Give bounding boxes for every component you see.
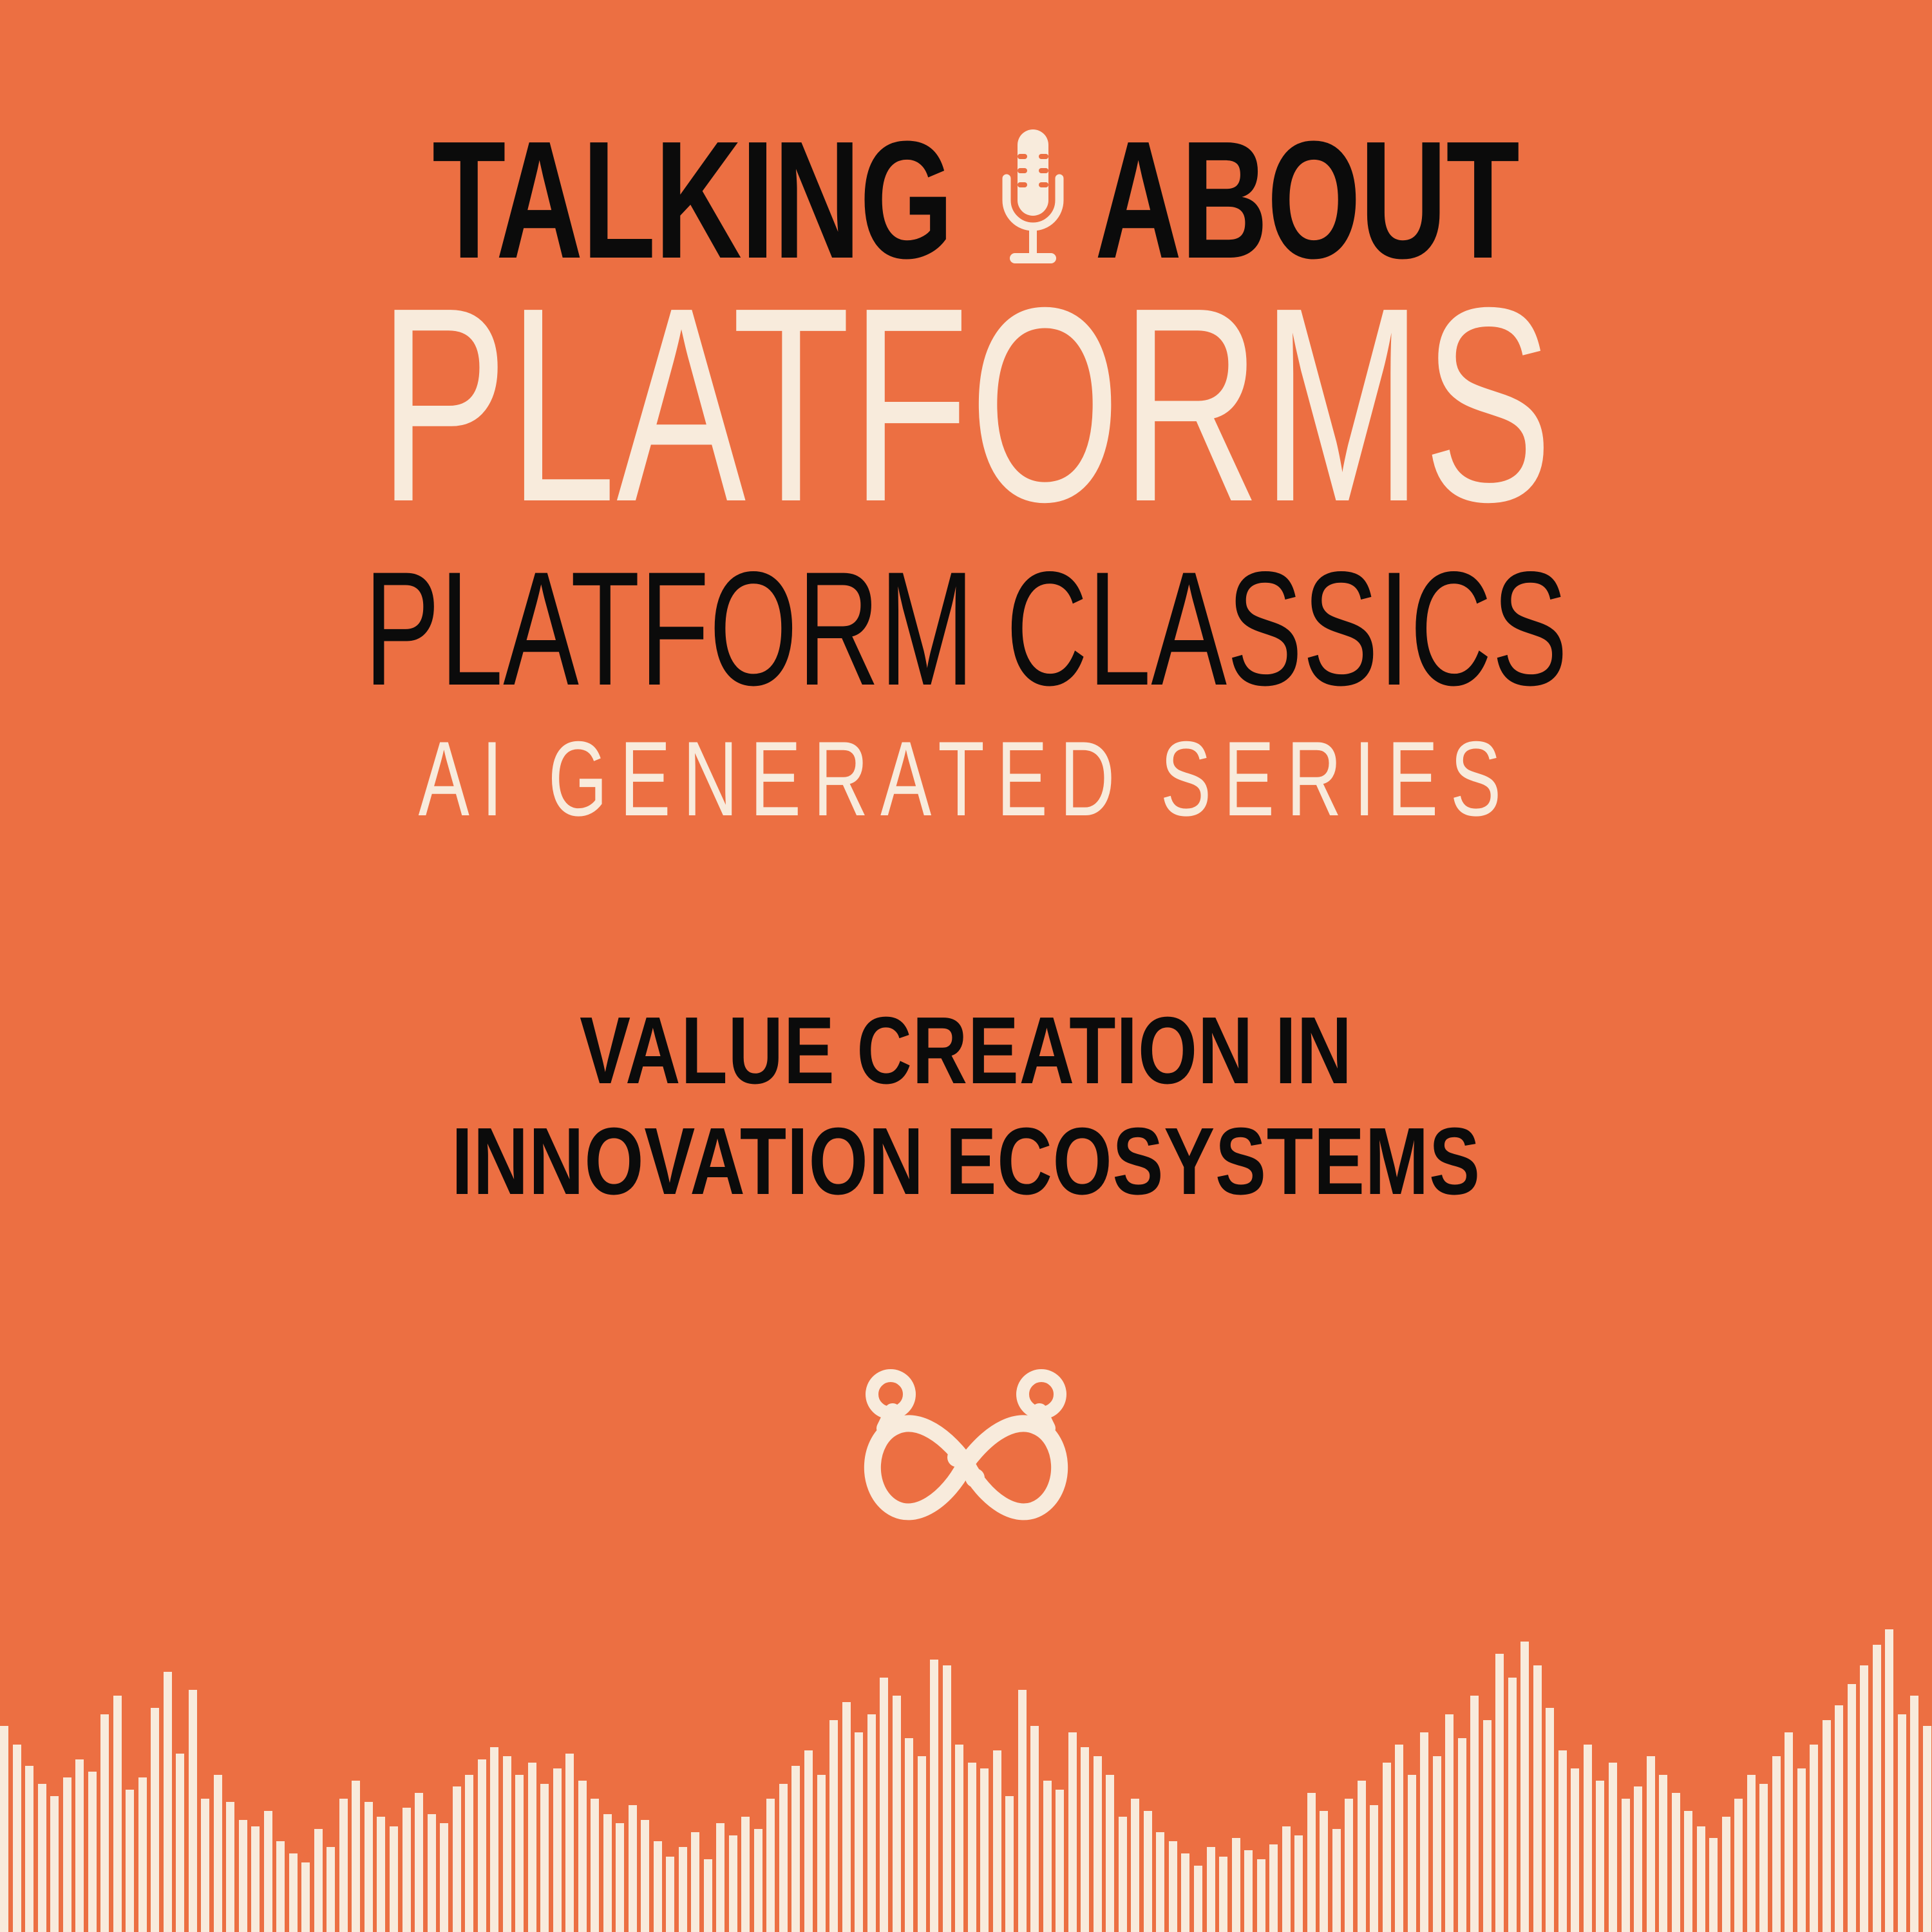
series-title: PLATFORM CLASSICS: [365, 568, 1568, 690]
waveform-bar: [565, 1754, 574, 1932]
waveform-bar: [553, 1768, 562, 1932]
waveform-bar: [1910, 1696, 1918, 1932]
waveform-bar: [1823, 1720, 1831, 1932]
waveform-bar: [1520, 1642, 1529, 1932]
waveform-bar: [88, 1772, 97, 1932]
waveform-bar: [1056, 1790, 1064, 1932]
waveform-bar: [13, 1745, 21, 1932]
waveform-bar: [1144, 1811, 1152, 1932]
title-stack: TALKING: [0, 0, 1932, 820]
waveform-bar: [1370, 1805, 1378, 1932]
waveform-bar: [603, 1814, 612, 1932]
waveform-bar: [1219, 1857, 1227, 1932]
waveform-bar: [1194, 1866, 1202, 1932]
waveform-bar: [1030, 1726, 1039, 1932]
waveform-bar: [1307, 1793, 1316, 1932]
waveform-bar: [1332, 1829, 1341, 1932]
waveform-bar: [1018, 1690, 1027, 1932]
waveform-bar: [1119, 1817, 1127, 1932]
waveform-bar: [301, 1862, 310, 1932]
waveform-bar: [352, 1781, 360, 1932]
waveform-bar: [1005, 1796, 1014, 1932]
brand-title: PLATFORMS: [379, 299, 1553, 511]
waveform-bar: [1470, 1696, 1479, 1932]
waveform-bar: [1734, 1799, 1743, 1932]
audio-waveform: [0, 1629, 1932, 1932]
waveform-bar: [189, 1690, 197, 1932]
waveform-bar: [164, 1672, 172, 1932]
waveform-bar: [1647, 1756, 1655, 1932]
waveform-bar: [38, 1784, 46, 1932]
waveform-bar: [1571, 1768, 1579, 1932]
waveform-bar: [0, 1726, 8, 1932]
waveform-bar: [1709, 1838, 1718, 1932]
waveform-bar: [214, 1775, 222, 1932]
waveform-bar: [490, 1747, 498, 1932]
waveform-bar: [1546, 1708, 1554, 1932]
waveform-bar: [1684, 1811, 1692, 1932]
waveform-bar: [1622, 1799, 1630, 1932]
waveform-bar: [955, 1745, 963, 1932]
waveform-bar: [1835, 1705, 1843, 1932]
waveform-bar: [980, 1768, 989, 1932]
waveform-bar: [138, 1777, 147, 1932]
waveform-bar: [1885, 1629, 1893, 1932]
waveform-bar: [918, 1756, 926, 1932]
waveform-bar: [817, 1775, 826, 1932]
waveform-bar: [1508, 1678, 1517, 1932]
waveform-bar: [943, 1665, 951, 1932]
waveform-bar: [905, 1738, 913, 1932]
waveform-bar: [1169, 1841, 1177, 1932]
waveform-bar: [704, 1859, 712, 1932]
waveform-bar: [1860, 1665, 1868, 1932]
waveform-bar: [1282, 1826, 1291, 1932]
waveform-bar: [113, 1696, 122, 1932]
waveform-bar: [151, 1708, 159, 1932]
waveform-bar: [1269, 1844, 1278, 1932]
waveform-bar: [1722, 1817, 1730, 1932]
waveform-bar: [453, 1786, 461, 1932]
waveform-bar: [804, 1750, 813, 1932]
waveform-bar: [993, 1750, 1001, 1932]
waveform-bar: [402, 1808, 411, 1932]
waveform-bar: [1131, 1799, 1139, 1932]
waveform-bar: [616, 1823, 624, 1932]
waveform-bar: [1495, 1654, 1504, 1932]
waveform-bar: [829, 1720, 838, 1932]
waveform-bar: [1358, 1781, 1366, 1932]
waveform-bar: [1294, 1835, 1303, 1932]
waveform-bar: [428, 1814, 436, 1932]
waveform-bar: [126, 1790, 134, 1932]
waveform-bar: [100, 1714, 109, 1932]
waveform-bar: [855, 1732, 863, 1932]
waveform-bar: [515, 1775, 524, 1932]
waveform-bar: [1483, 1720, 1492, 1932]
waveform-bar: [1345, 1799, 1353, 1932]
waveform-bar: [440, 1823, 448, 1932]
waveform-bar: [264, 1811, 272, 1932]
waveform-bar: [666, 1857, 674, 1932]
waveform-bar: [1445, 1714, 1454, 1932]
waveform-bar: [654, 1841, 662, 1932]
waveform-bar: [1672, 1793, 1680, 1932]
waveform-bar: [1697, 1826, 1705, 1932]
waveform-bar: [1244, 1850, 1253, 1932]
waveform-bar: [779, 1784, 788, 1932]
waveform-bar: [1156, 1832, 1164, 1932]
waveform-bar: [75, 1759, 84, 1932]
waveform-bar: [1533, 1665, 1542, 1932]
waveform-bar: [1609, 1763, 1617, 1932]
subseries-label: AI GENERATED SERIES: [419, 737, 1513, 820]
waveform-bar: [1797, 1768, 1806, 1932]
waveform-bar: [1659, 1775, 1667, 1932]
episode-title: VALUE CREATION IN INNOVATION ECOSYSTEMS: [0, 1002, 1932, 1224]
waveform-bar: [289, 1853, 298, 1932]
waveform-bar: [25, 1766, 33, 1932]
waveform-bar: [63, 1777, 71, 1932]
waveform-bar: [239, 1820, 247, 1932]
waveform-bar: [1747, 1775, 1756, 1932]
waveform-bar: [1395, 1745, 1403, 1932]
waveform-bar: [1383, 1763, 1391, 1932]
waveform-bar: [1181, 1853, 1189, 1932]
waveform-bar: [251, 1826, 260, 1932]
waveform-bar: [1923, 1726, 1931, 1932]
waveform-bar: [1320, 1811, 1328, 1932]
waveform-bar: [1898, 1714, 1906, 1932]
waveform-bar: [201, 1799, 209, 1932]
waveform-bar: [754, 1829, 762, 1932]
waveform-bar: [226, 1802, 234, 1932]
waveform-bar: [176, 1754, 184, 1932]
waveform-bar: [880, 1678, 888, 1932]
waveform-bar: [365, 1802, 373, 1932]
waveform-bar: [1596, 1781, 1604, 1932]
waveform-bar: [716, 1823, 724, 1932]
logo-head-right: [1023, 1376, 1060, 1413]
waveform-bar: [1772, 1756, 1781, 1932]
waveform-bar: [377, 1817, 385, 1932]
waveform-bar: [591, 1799, 599, 1932]
waveform-bar: [1068, 1732, 1077, 1932]
waveform-bar: [390, 1826, 398, 1932]
waveform-bar: [314, 1829, 323, 1932]
podcast-cover-art: TALKING: [0, 0, 1932, 1932]
waveform-bar: [791, 1766, 800, 1932]
waveform-bar: [1759, 1784, 1768, 1932]
waveform-bar: [1106, 1775, 1114, 1932]
waveform-bar: [893, 1696, 901, 1932]
waveform-bar: [691, 1832, 699, 1932]
waveform-bar: [528, 1763, 536, 1932]
waveform-bar: [276, 1841, 285, 1932]
waveform-bar: [478, 1759, 486, 1932]
waveform-bar: [339, 1799, 348, 1932]
infinity-people-logo: [837, 1367, 1095, 1560]
waveform-bar: [327, 1847, 335, 1932]
waveform-bar: [1634, 1786, 1642, 1932]
episode-title-line-2: INNOVATION ECOSYSTEMS: [193, 1113, 1739, 1211]
waveform-bar: [540, 1784, 549, 1932]
logo-dot-lower: [965, 1468, 985, 1488]
waveform-bar: [50, 1796, 59, 1932]
waveform-bar: [1043, 1781, 1052, 1932]
episode-title-line-1: VALUE CREATION IN: [193, 1002, 1739, 1100]
waveform-bar: [641, 1820, 649, 1932]
waveform-bar: [1232, 1838, 1240, 1932]
logo-dot-upper: [947, 1448, 967, 1467]
waveform-bar: [1094, 1756, 1102, 1932]
waveform-bar: [503, 1756, 511, 1932]
waveform-bar: [930, 1660, 938, 1932]
waveform-bar: [1848, 1684, 1856, 1932]
waveform-bar: [1558, 1750, 1567, 1932]
waveform-bar: [1420, 1732, 1428, 1932]
waveform-bar: [729, 1835, 737, 1932]
waveform-bar: [415, 1793, 423, 1932]
waveform-bar: [842, 1702, 851, 1932]
waveform-bar: [1873, 1645, 1881, 1932]
waveform-bar: [679, 1847, 687, 1932]
waveform-bar: [741, 1817, 750, 1932]
waveform-bar: [1207, 1847, 1215, 1932]
waveform-bar: [1257, 1859, 1265, 1932]
waveform-bar: [1810, 1745, 1818, 1932]
waveform-bar: [867, 1714, 876, 1932]
waveform-bar: [766, 1799, 775, 1932]
waveform-bar: [1408, 1775, 1416, 1932]
waveform-bar: [1584, 1745, 1592, 1932]
waveform-bar: [1433, 1756, 1441, 1932]
waveform-bar: [629, 1805, 637, 1932]
waveform-bar: [578, 1781, 587, 1932]
logo-head-left: [872, 1376, 909, 1413]
logo-container: [0, 1367, 1932, 1560]
waveform-bar: [968, 1763, 976, 1932]
waveform-bar: [1081, 1747, 1089, 1932]
waveform-bar: [1458, 1738, 1466, 1932]
waveform-bar: [1785, 1732, 1793, 1932]
waveform-bar: [465, 1775, 473, 1932]
